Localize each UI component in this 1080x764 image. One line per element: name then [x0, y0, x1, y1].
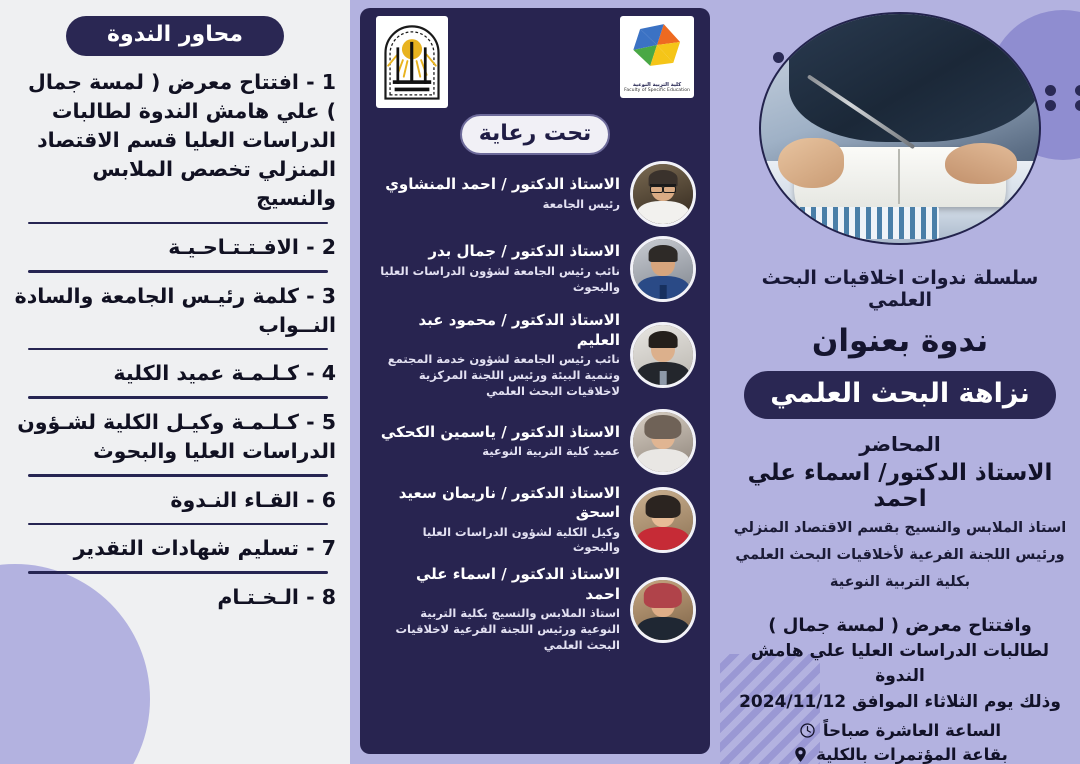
list-item: الاستاذ الدكتور / ياسمين الكحكي عميد كلي…: [374, 409, 696, 475]
list-item: 3 - كلمة رئيـس الجامعة والسادة النــواب: [14, 282, 336, 351]
series-line: سلسلة ندوات اخلاقيات البحث العلمي: [730, 267, 1070, 311]
agenda-item-text: 8 - الـخـتـام: [14, 583, 336, 612]
seminar-label: ندوة بعنوان: [730, 323, 1070, 359]
divider: [28, 396, 328, 399]
event-meta: الساعة العاشرة صباحاً بقاعة المؤتمرات با…: [730, 721, 1070, 764]
agenda-item-text: 6 - القـاء النـدوة: [14, 486, 336, 515]
divider: [28, 523, 328, 526]
list-item: الاستاذ الدكتور / احمد المنشاوي رئيس الج…: [374, 161, 696, 227]
venue-text: بقاعة المؤتمرات بالكلية: [816, 745, 1008, 764]
seminar-title: نزاهة البحث العلمي: [744, 371, 1056, 419]
date-line: وذلك يوم الثلاثاء الموافق 2024/11/12: [730, 690, 1070, 716]
logos-row: كلية التربية النوعية Faculty of Specific…: [370, 14, 700, 108]
divider: [28, 474, 328, 477]
lecturer-name: الاستاذ الدكتور/ اسماء علي احمد: [730, 460, 1070, 512]
sun-arch-icon: [380, 20, 444, 104]
portrait-gamal-badr: [630, 236, 696, 302]
portrait-mahmoud-abdelalim: [630, 322, 696, 388]
divider: [28, 571, 328, 574]
portrait-ahmed-elmenshawy: [630, 161, 696, 227]
lecturer-role-line-3: بكلية التربية النوعية: [730, 572, 1070, 593]
sponsor-name: الاستاذ الدكتور / جمال بدر: [378, 242, 620, 262]
divider: [28, 270, 328, 273]
lecturer-role-line-2: ورئيس اللجنة الفرعية لأخلاقيات البحث الع…: [730, 545, 1070, 566]
agenda-item-text: 7 - تسليم شهادات التقدير: [14, 534, 336, 563]
agenda-list: 1 - افتتاح معرض ( لمسة جمال ) علي هامش ا…: [14, 68, 336, 612]
expo-line: وافتتاح معرض ( لمسة جمال ): [730, 612, 1070, 639]
faculty-logo-caption-ar: كلية التربية النوعية: [633, 82, 681, 88]
faculty-logo-caption-en: Faculty of Specific Education: [624, 88, 690, 94]
list-item: الاستاذ الدكتور / ناريمان سعيد اسحق وكيل…: [374, 484, 696, 557]
sponsors-card: كلية التربية النوعية Faculty of Specific…: [360, 8, 710, 754]
expo-sub-line: لطالبات الدراسات العليا علي هامش الندوة: [730, 639, 1070, 690]
list-item: الاستاذ الدكتور / جمال بدر نائب رئيس الج…: [374, 236, 696, 302]
list-item: 4 - كـلـمـة عميد الكلية: [14, 359, 336, 399]
sponsors-heading: تحت رعاية: [460, 114, 610, 155]
portrait-nariman-saeed-ishaq: [630, 487, 696, 553]
venue-row: بقاعة المؤتمرات بالكلية: [792, 745, 1008, 764]
right-panel: محاور الندوة 1 - افتتاح معرض ( لمسة جمال…: [0, 0, 350, 764]
assiut-university-logo: [376, 16, 448, 108]
sponsor-role: وكيل الكلية لشؤون الدراسات العليا والبحو…: [378, 525, 620, 557]
agenda-item-text: 2 - الافـتـتـاحـيـة: [14, 233, 336, 262]
agenda-item-text: 4 - كـلـمـة عميد الكلية: [14, 359, 336, 388]
list-item: 1 - افتتاح معرض ( لمسة جمال ) علي هامش ا…: [14, 68, 336, 224]
agenda-heading: محاور الندوة: [66, 16, 284, 56]
sponsor-role: عميد كلية التربية النوعية: [378, 444, 620, 460]
pinwheel-icon: [632, 20, 682, 70]
time-text: الساعة العاشرة صباحاً: [823, 721, 1001, 740]
portrait-asmaa-ali-ahmed: [630, 577, 696, 643]
list-item: 7 - تسليم شهادات التقدير: [14, 534, 336, 574]
middle-panel: كلية التربية النوعية Faculty of Specific…: [350, 0, 720, 764]
hands-writing-in-notebook-photo: [759, 12, 1041, 245]
agenda-item-text: 3 - كلمة رئيـس الجامعة والسادة النــواب: [14, 282, 336, 340]
sponsor-name: الاستاذ الدكتور / اسماء علي احمد: [378, 565, 620, 604]
agenda-item-text: 5 - كـلـمـة وكيـل الكلية لشـؤون الدراسات…: [14, 408, 336, 466]
clock-icon: [799, 722, 816, 739]
divider: [28, 348, 328, 351]
list-item: 2 - الافـتـتـاحـيـة: [14, 233, 336, 273]
portrait-yasmin-elkahky: [630, 409, 696, 475]
divider: [28, 222, 328, 225]
seminar-poster: سلسلة ندوات اخلاقيات البحث العلمي ندوة ب…: [0, 0, 1080, 764]
sponsor-role: رئيس الجامعة: [378, 197, 620, 213]
map-pin-icon: [792, 745, 809, 764]
list-item: 6 - القـاء النـدوة: [14, 486, 336, 526]
agenda-item-text: 1 - افتتاح معرض ( لمسة جمال ) علي هامش ا…: [14, 68, 336, 214]
list-item: الاستاذ الدكتور / محمود عبد العليم نائب …: [374, 311, 696, 400]
faculty-of-specific-education-logo: كلية التربية النوعية Faculty of Specific…: [620, 16, 694, 98]
time-row: الساعة العاشرة صباحاً: [799, 721, 1001, 740]
lecturer-label: المحاضر: [730, 432, 1070, 456]
sponsor-name: الاستاذ الدكتور / ناريمان سعيد اسحق: [378, 484, 620, 523]
left-panel: سلسلة ندوات اخلاقيات البحث العلمي ندوة ب…: [720, 0, 1080, 764]
lecturer-role-line-1: استاذ الملابس والنسيج بقسم الاقتصاد المن…: [730, 518, 1070, 539]
sponsor-name: الاستاذ الدكتور / محمود عبد العليم: [378, 311, 620, 350]
sponsor-name: الاستاذ الدكتور / احمد المنشاوي: [378, 175, 620, 195]
list-item: 8 - الـخـتـام: [14, 583, 336, 612]
sponsor-name: الاستاذ الدكتور / ياسمين الكحكي: [378, 423, 620, 443]
decorative-dot: [773, 52, 784, 63]
list-item: 5 - كـلـمـة وكيـل الكلية لشـؤون الدراسات…: [14, 408, 336, 477]
list-item: الاستاذ الدكتور / اسماء علي احمد استاذ ا…: [374, 565, 696, 654]
sponsor-role: نائب رئيس الجامعة لشؤون خدمة المجتمع وتن…: [378, 352, 620, 400]
sponsors-list: الاستاذ الدكتور / احمد المنشاوي رئيس الج…: [370, 159, 700, 654]
sponsor-role: استاذ الملابس والنسيج بكلية التربية النو…: [378, 606, 620, 654]
sponsor-role: نائب رئيس الجامعة لشؤون الدراسات العليا …: [378, 264, 620, 296]
